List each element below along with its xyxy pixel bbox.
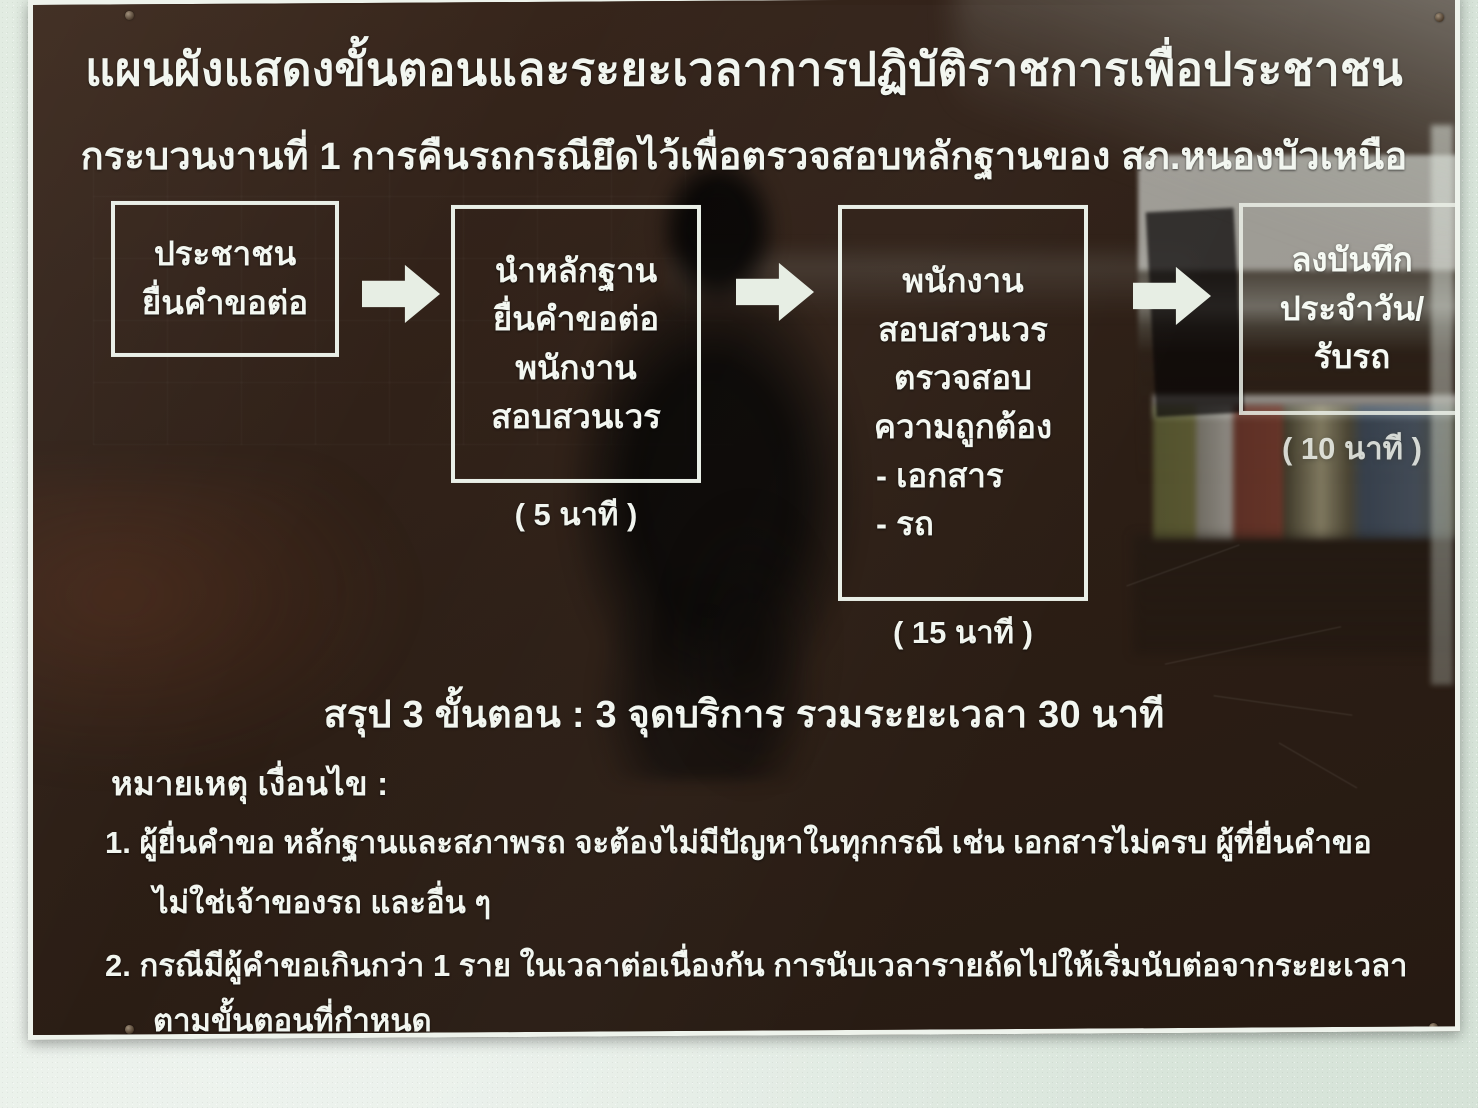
flow-step-3-item-documents: - เอกสาร: [876, 459, 1004, 494]
flow-step-3-line-4: ความถูกต้อง: [874, 410, 1052, 445]
flow-step-2-line-3: พนักงาน: [515, 351, 637, 386]
flow-step-3-duration: ( 15 นาที ): [838, 607, 1088, 657]
flow-step-2-line-4: สอบสวนเวร: [491, 400, 661, 435]
note-1-line-2: ไม่ใช่เจ้าของรถ และอื่น ๆ: [153, 877, 491, 927]
flow-step-4-line-2: ประจำวัน/: [1280, 292, 1425, 327]
note-2-line-1: 2. กรณีมีผู้คำขอเกินกว่า 1 ราย ในเวลาต่อ…: [105, 940, 1407, 990]
flow-step-3-line-2: สอบสวนเวร: [878, 313, 1048, 348]
flow-step-2-line-1: นำหลักฐาน: [495, 254, 657, 289]
flow-step-3-item-vehicle: - รถ: [876, 507, 934, 542]
flow-step-3-line-1: พนักงาน: [902, 264, 1024, 299]
flow-step-2-duration: ( 5 นาที ): [451, 489, 701, 539]
information-sign-board: แผนผังแสดงขั้นตอนและระยะเวลาการปฏิบัติรา…: [28, 0, 1460, 1040]
flow-step-2-line-2: ยื่นคำขอต่อ: [493, 302, 659, 337]
flow-step-1-line-2: ยื่นคำขอต่อ: [142, 286, 308, 321]
flow-step-box-4: ลงบันทึก ประจำวัน/ รับรถ: [1239, 203, 1460, 415]
flow-step-1-line-1: ประชาชน: [154, 237, 296, 272]
flow-step-3-line-3: ตรวจสอบ: [894, 361, 1032, 396]
flow-step-4-line-3: รับรถ: [1314, 340, 1390, 375]
flow-step-box-2: นำหลักฐาน ยื่นคำขอต่อ พนักงาน สอบสวนเวร: [451, 205, 701, 483]
flow-step-box-3: พนักงาน สอบสวนเวร ตรวจสอบ ความถูกต้อง - …: [838, 205, 1088, 601]
flow-step-4-line-1: ลงบันทึก: [1291, 243, 1413, 278]
mounting-screw: [1435, 13, 1444, 22]
mounting-screw: [1429, 1023, 1438, 1032]
mounting-screw: [125, 11, 134, 20]
sign-title-line-2: กระบวนงานที่ 1 การคืนรถกรณียึดไว้เพื่อตร…: [33, 125, 1455, 186]
mounting-screw: [125, 1025, 134, 1034]
summary-line: สรุป 3 ขั้นตอน : 3 จุดบริการ รวมระยะเวลา…: [33, 683, 1455, 744]
notes-heading: หมายเหตุ เงื่อนไข :: [111, 757, 388, 810]
note-1-line-1: 1. ผู้ยื่นคำขอ หลักฐานและสภาพรถ จะต้องไม…: [105, 817, 1372, 867]
sign-title-line-1: แผนผังแสดงขั้นตอนและระยะเวลาการปฏิบัติรา…: [33, 33, 1455, 106]
flow-step-box-1: ประชาชน ยื่นคำขอต่อ: [111, 201, 339, 357]
flow-step-4-duration: ( 10 นาที ): [1239, 423, 1460, 473]
note-2-line-2: ตามขั้นตอนที่กำหนด: [153, 995, 432, 1040]
